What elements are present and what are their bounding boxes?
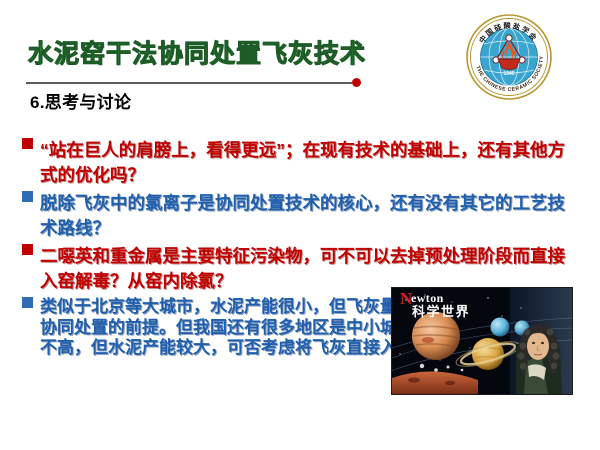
chinese-ceramic-society-logo: 中国硅酸盐学会 THE CHINESE CERAMIC SOCIETY 1945 xyxy=(466,14,552,100)
square-bullet-icon xyxy=(22,191,33,202)
list-item-label: 二噁英和重金属是主要特征污染物，可不可以去掉预处理阶段而直接入窑解毒？从窑内除氯… xyxy=(40,246,565,291)
accent-dot-icon xyxy=(352,78,361,87)
magazine-chinese-title: 科学世界 xyxy=(412,304,470,319)
magazine-artwork: N ewton 科学世界 xyxy=(392,288,572,394)
list-item: “站在巨人的肩膀上，看得更远”；在现有技术的基础上，还有其他方式的优化吗？ xyxy=(22,138,582,188)
list-item-label: 脱除飞灰中的氯离子是协同处置技术的核心，还有没有其它的工艺技术路线？ xyxy=(40,193,565,238)
section-heading: 6.思考与讨论 xyxy=(30,88,131,113)
list-item: 二噁英和重金属是主要特征污染物，可不可以去掉预处理阶段而直接入窑解毒？从窑内除氯… xyxy=(22,244,582,294)
title-divider xyxy=(26,82,352,84)
page-title: 水泥窑干法协同处置飞灰技术 xyxy=(28,42,366,67)
logo-svg: 中国硅酸盐学会 THE CHINESE CERAMIC SOCIETY 1945 xyxy=(466,14,552,100)
logo-year: 1945 xyxy=(503,71,514,77)
presentation-slide: 水泥窑干法协同处置飞灰技术 6.思考与讨论 xyxy=(0,0,600,450)
square-bullet-icon xyxy=(22,297,33,308)
list-item: 脱除飞灰中的氯离子是协同处置技术的核心，还有没有其它的工艺技术路线？ xyxy=(22,191,582,241)
square-bullet-icon xyxy=(22,244,33,255)
square-bullet-icon xyxy=(22,138,33,149)
magazine-brand: ewton xyxy=(411,291,444,305)
newton-science-world-magazine-cover: N ewton 科学世界 xyxy=(392,288,572,394)
list-item-label: “站在巨人的肩膀上，看得更远”；在现有技术的基础上，还有其他方式的优化吗？ xyxy=(40,140,565,185)
